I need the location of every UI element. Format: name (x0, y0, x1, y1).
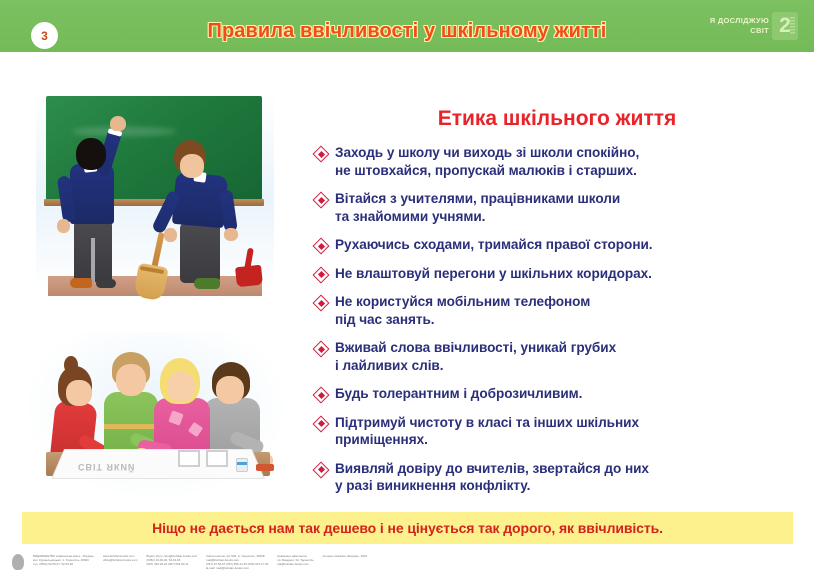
illustration-children-poster: СВІТ ЯКИЙ (26, 332, 286, 497)
rule-text: Вітайся з учителями, працівниками школи … (335, 190, 620, 225)
page-title: Правила ввічливості у шкільному житті (0, 20, 814, 43)
boy-sweeping-face (180, 154, 204, 178)
publisher-logo: Я ДОСЛІДЖУЮ СВІТ 2 (710, 10, 798, 42)
boy-sweeping-shoe (194, 278, 220, 289)
boy-washing-board-shoe-left (70, 278, 92, 288)
poster-text: СВІТ ЯКИЙ (78, 462, 135, 472)
diamond-bullet-icon (314, 268, 328, 282)
rule-text: Не користуйся мобільним телефоном під ча… (335, 293, 590, 328)
diamond-bullet-icon (314, 342, 328, 356)
rule-item: Вживай слова ввічливості, уникай грубих … (314, 339, 806, 374)
footer-column: Відділ збуту: sbut@bohdan-books.com (035… (146, 554, 197, 566)
paint-can-icon (236, 458, 248, 472)
diamond-bullet-icon (314, 388, 328, 402)
rules-section: Етика шкільного життя Заходь у школу чи … (314, 107, 806, 506)
publisher-emblem-icon (12, 554, 24, 570)
rule-item: Не влаштовуй перегони у шкільних коридор… (314, 265, 806, 283)
rule-text: Не влаштовуй перегони у шкільних коридор… (335, 265, 652, 283)
rule-text: Рухаючись сходами, тримайся правої сторо… (335, 236, 653, 254)
boy-grey-face (216, 376, 244, 404)
boy-sweeping-hand-front (164, 228, 177, 242)
rule-item: Виявляй довіру до вчителів, звертайся до… (314, 460, 806, 495)
diamond-bullet-icon (314, 417, 328, 431)
rule-item: Підтримуй чистоту в класі та інших шкіль… (314, 414, 806, 449)
dustpan-icon (235, 265, 263, 288)
rule-text: Будь толерантним і доброзичливим. (335, 385, 582, 403)
illustration-classroom-cleaning (22, 80, 287, 310)
footer-column: Крамниця «Дім книги» пр. Бандери, 34, Те… (277, 554, 313, 566)
diamond-bullet-icon (314, 463, 328, 477)
footer-column: www.bohdan-books.com office@bohdan-books… (103, 554, 137, 562)
boy-green-face (116, 364, 146, 396)
boy-washing-board-shoe-right (96, 279, 116, 288)
girl-pink-face (167, 372, 195, 402)
proverb-text: Ніщо не дається нам так дешево і не ціну… (152, 520, 663, 536)
worksheet-page: 3 Правила ввічливості у шкільному житті … (0, 0, 814, 583)
page-header: 3 Правила ввічливості у шкільному житті … (0, 0, 814, 52)
poster-square-1 (178, 450, 200, 467)
diamond-bullet-icon (314, 239, 328, 253)
rule-item: Рухаючись сходами, тримайся правої сторо… (314, 236, 806, 254)
paint-brush-icon (256, 464, 274, 471)
rule-text: Заходь у школу чи виходь зі школи спокій… (335, 144, 639, 179)
publisher-footer: ВИДАВНИЦТВО «Навчальна книга – Богдан» в… (0, 550, 814, 583)
rule-item: Не користуйся мобільним телефоном під ча… (314, 293, 806, 328)
boy-washing-board-hand-up (110, 116, 126, 131)
diamond-bullet-icon (314, 193, 328, 207)
boy-washing-board-hand-down (57, 219, 70, 233)
footer-column: Інтернет-магазин «Богдан», 2019 (323, 554, 367, 558)
boy-sweeping-legs (180, 223, 220, 283)
page-content: СВІТ ЯКИЙ Етика шкільного життя Заходь у… (0, 52, 814, 507)
diamond-bullet-icon (314, 147, 328, 161)
rule-item: Вітайся з учителями, працівниками школи … (314, 190, 806, 225)
rule-text: Вживай слова ввічливості, уникай грубих … (335, 339, 616, 374)
logo-text-line2: СВІТ (710, 26, 769, 36)
boy-sweeping-hand-back (224, 228, 238, 241)
poster-square-2 (206, 450, 228, 467)
section-title: Етика шкільного життя (324, 107, 790, 131)
girl-red-face (66, 380, 92, 406)
footer-column: Книга поштою: а/с 529, м. Тернопіль, 460… (206, 554, 268, 570)
logo-text: Я ДОСЛІДЖУЮ СВІТ (710, 16, 772, 36)
footer-column: ВИДАВНИЦТВО «Навчальна книга – Богдан» в… (33, 554, 94, 566)
rule-text: Виявляй довіру до вчителів, звертайся до… (335, 460, 649, 495)
rule-item: Будь толерантним і доброзичливим. (314, 385, 806, 403)
boy-green-stripe (104, 424, 158, 429)
diamond-bullet-icon (314, 296, 328, 310)
logo-grade-mark: 2 (772, 12, 798, 40)
rule-item: Заходь у школу чи виходь зі школи спокій… (314, 144, 806, 179)
logo-text-line1: Я ДОСЛІДЖУЮ (710, 16, 769, 26)
proverb-banner: Ніщо не дається нам так дешево і не ціну… (22, 512, 793, 544)
boy-washing-board-head (76, 138, 106, 170)
boy-washing-board-legs (74, 220, 112, 282)
rule-text: Підтримуй чистоту в класі та інших шкіль… (335, 414, 639, 449)
